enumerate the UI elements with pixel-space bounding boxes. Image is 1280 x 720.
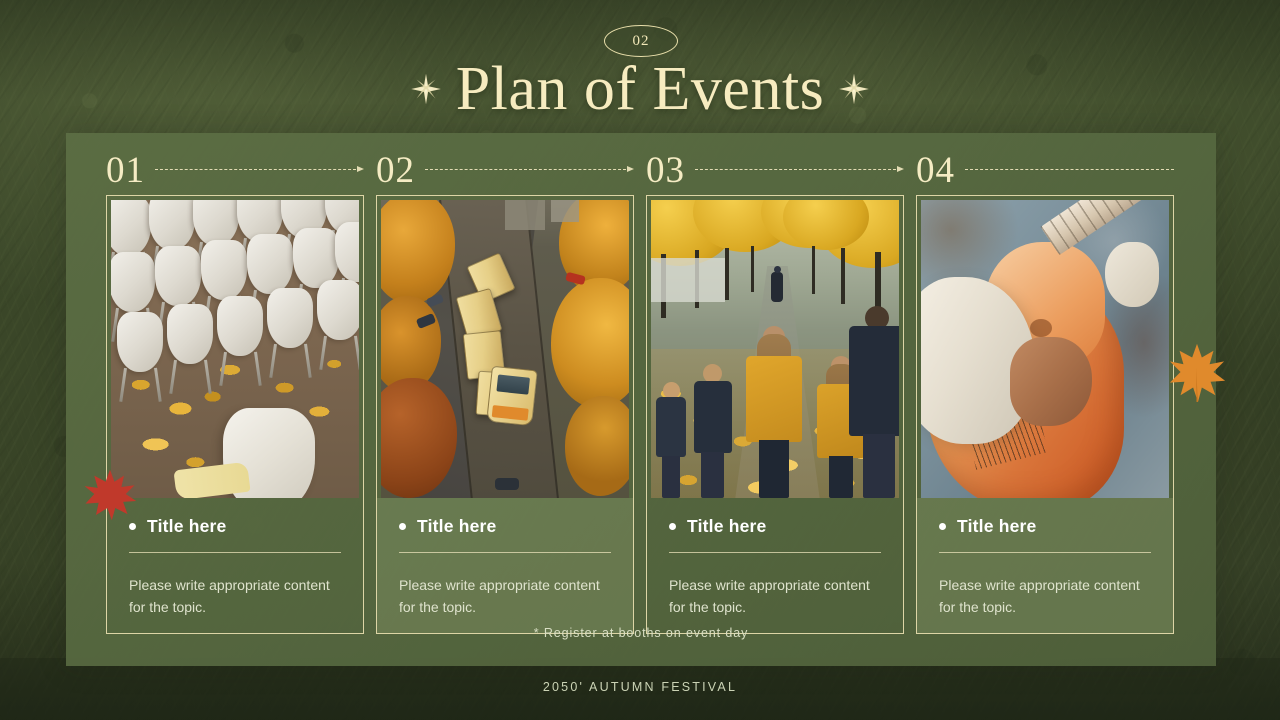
bullet-icon: [939, 523, 946, 530]
step-dashed-line: [965, 165, 1174, 175]
card-header: 02: [376, 145, 634, 195]
card-text-block: Title here Please write appropriate cont…: [917, 498, 1173, 633]
card-photo-guitar: [921, 200, 1169, 498]
card-body: Title here Please write appropriate cont…: [376, 195, 634, 634]
card-title-row: Title here: [939, 516, 1151, 537]
card-body: Title here Please write appropriate cont…: [106, 195, 364, 634]
card-title: Title here: [417, 516, 497, 537]
card-body: Title here Please write appropriate cont…: [646, 195, 904, 634]
card-number: 01: [106, 152, 145, 189]
card-description: Please write appropriate content for the…: [669, 574, 874, 618]
card-header: 01: [106, 145, 364, 195]
slide-footer-brand: 2050' AUTUMN FESTIVAL: [0, 680, 1280, 694]
maple-leaf-red-icon: [82, 466, 138, 522]
divider: [939, 552, 1151, 553]
registration-note: * Register at booths on event day: [66, 626, 1216, 640]
card-title-row: Title here: [669, 516, 881, 537]
event-card-01[interactable]: 01: [106, 145, 364, 634]
divider: [669, 552, 881, 553]
page-title: Plan of Events: [456, 58, 825, 120]
event-card-04[interactable]: 04: [916, 145, 1174, 634]
card-number: 04: [916, 152, 955, 189]
card-number: 02: [376, 152, 415, 189]
card-title-row: Title here: [129, 516, 341, 537]
event-card-03[interactable]: 03: [646, 145, 904, 634]
slide-canvas: 02 Plan of Events 01: [0, 0, 1280, 720]
event-cards-row: 01: [106, 145, 1176, 634]
card-title: Title here: [147, 516, 227, 537]
section-badge: 02: [604, 25, 678, 57]
step-arrow-icon: [695, 165, 904, 175]
card-text-block: Title here Please write appropriate cont…: [377, 498, 633, 633]
step-arrow-icon: [155, 165, 364, 175]
card-title: Title here: [687, 516, 767, 537]
card-photo-chairs: [111, 200, 359, 498]
step-arrow-icon: [425, 165, 634, 175]
event-card-02[interactable]: 02: [376, 145, 634, 634]
section-badge-label: 02: [633, 33, 650, 50]
title-row: Plan of Events: [0, 58, 1280, 120]
divider: [129, 552, 341, 553]
card-number: 03: [646, 152, 685, 189]
card-photo-train: [381, 200, 629, 498]
bullet-icon: [669, 523, 676, 530]
card-title-row: Title here: [399, 516, 611, 537]
card-text-block: Title here Please write appropriate cont…: [107, 498, 363, 633]
card-body: Title here Please write appropriate cont…: [916, 195, 1174, 634]
card-description: Please write appropriate content for the…: [939, 574, 1144, 618]
bullet-icon: [129, 523, 136, 530]
sparkle-icon: [838, 73, 870, 105]
divider: [399, 552, 611, 553]
sparkle-icon: [410, 73, 442, 105]
card-description: Please write appropriate content for the…: [399, 574, 604, 618]
maple-leaf-orange-icon: [1166, 341, 1228, 403]
card-text-block: Title here Please write appropriate cont…: [647, 498, 903, 633]
card-title: Title here: [957, 516, 1037, 537]
card-header: 04: [916, 145, 1174, 195]
card-photo-family: [651, 200, 899, 498]
bullet-icon: [399, 523, 406, 530]
card-description: Please write appropriate content for the…: [129, 574, 334, 618]
card-header: 03: [646, 145, 904, 195]
content-panel: 01: [66, 133, 1216, 666]
